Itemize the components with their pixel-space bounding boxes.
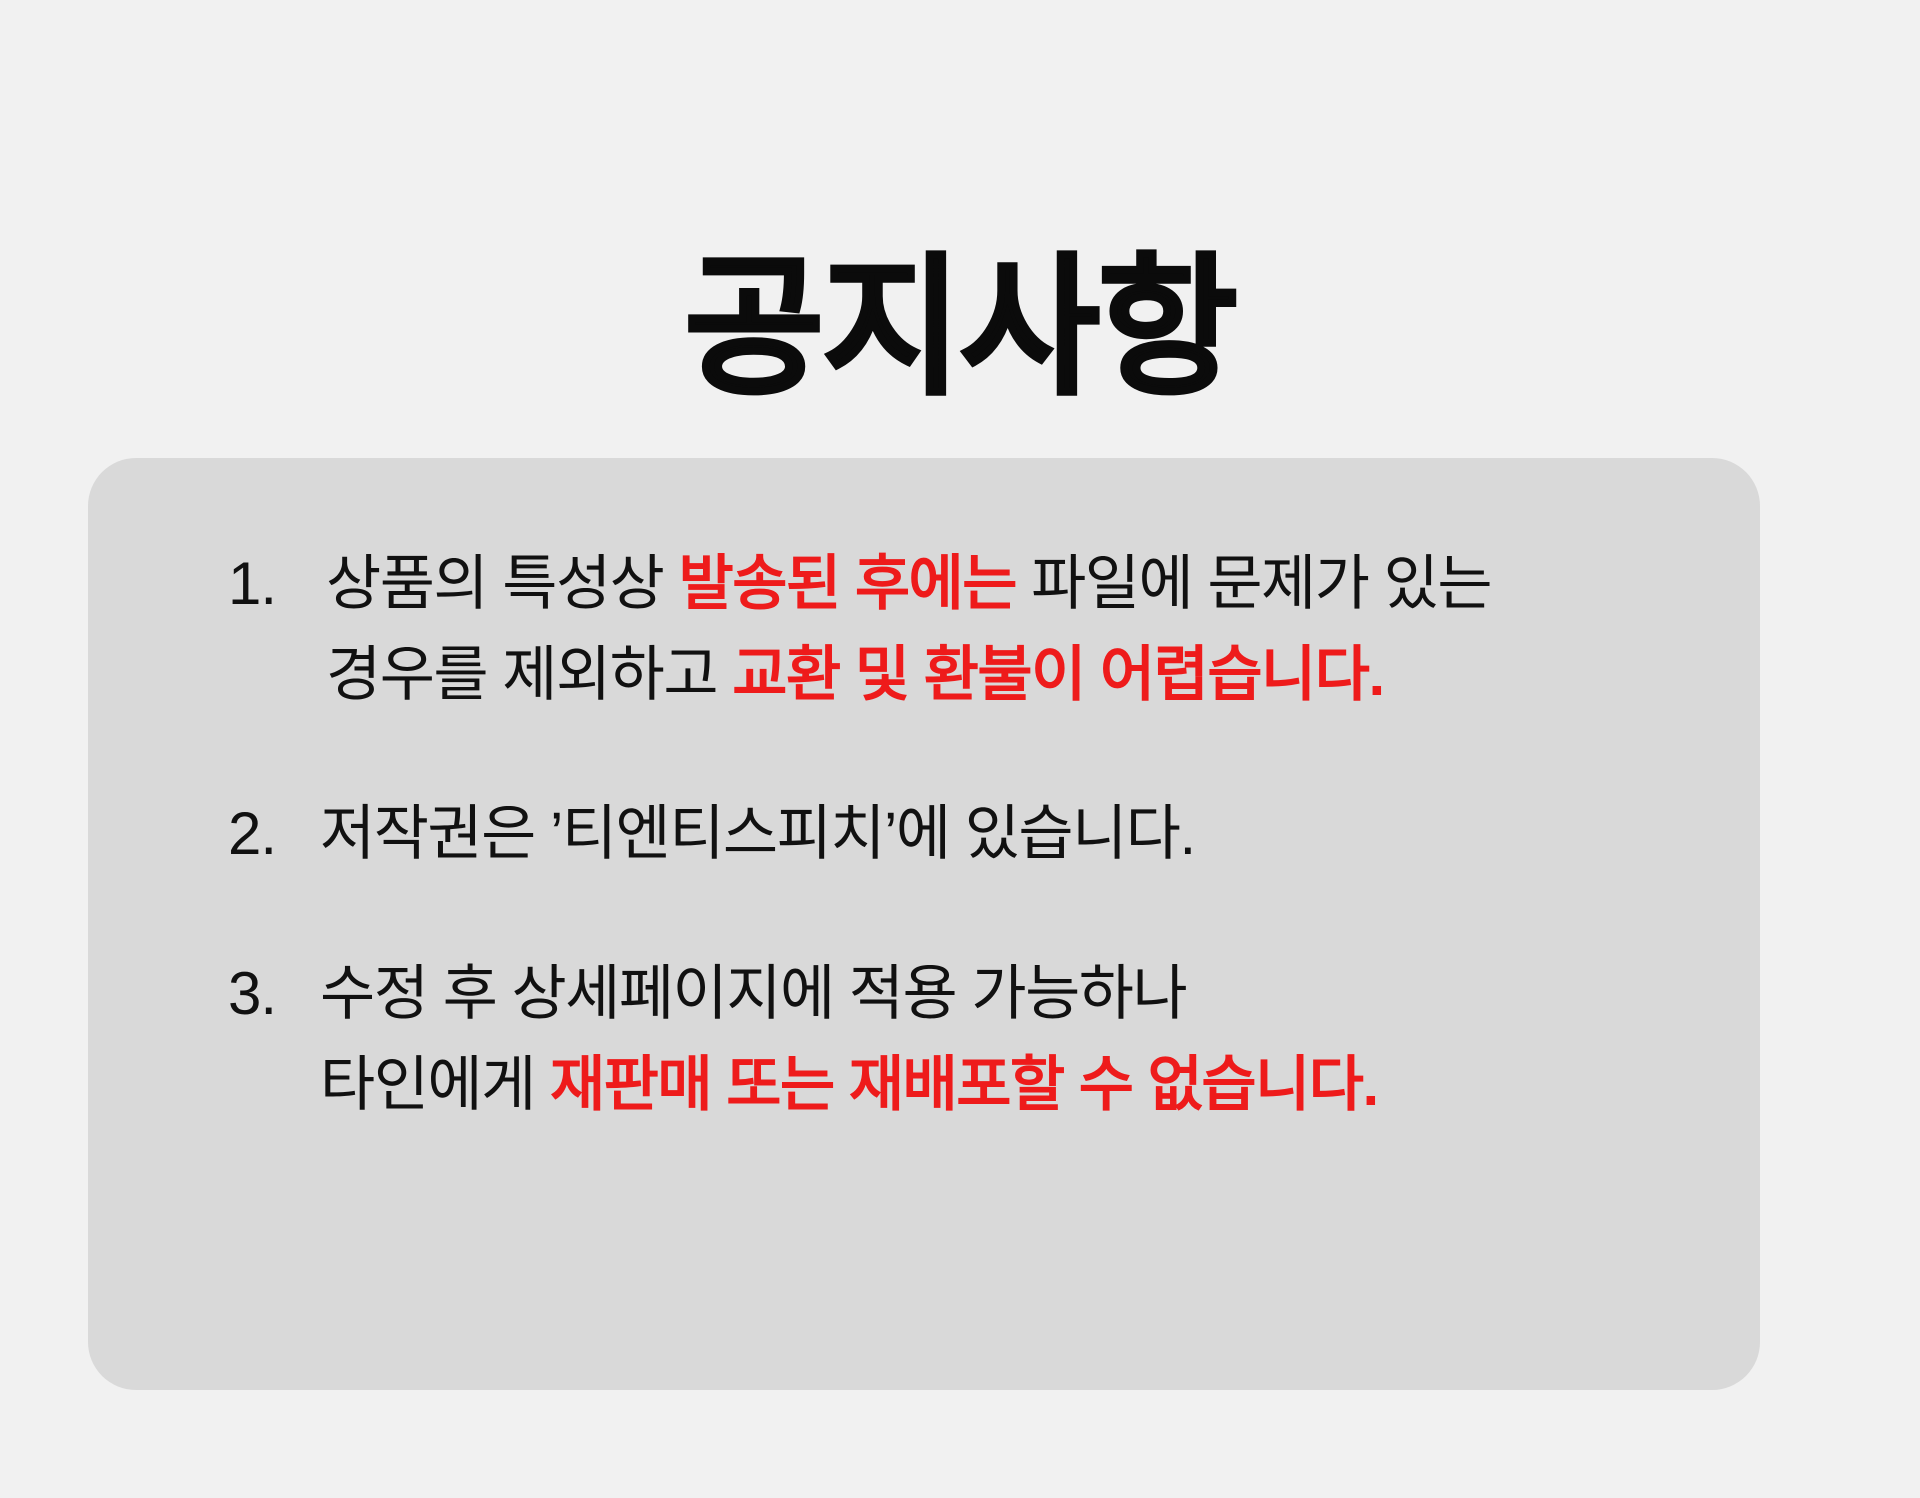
highlight-text: 교환 및 환불이 어렵습니다. bbox=[732, 641, 1383, 708]
notice-item-number: 1. bbox=[228, 538, 276, 629]
notice-item: 1.상품의 특성상 발송된 후에는 파일에 문제가 있는경우를 제외하고 교환 … bbox=[228, 538, 1690, 720]
notice-item: 2.저작권은 ’티엔티스피치’에 있습니다. bbox=[228, 788, 1690, 879]
notice-item-line: 경우를 제외하고 교환 및 환불이 어렵습니다. bbox=[326, 629, 1690, 720]
body-text: 경우를 제외하고 bbox=[326, 641, 732, 708]
notice-item-number: 2. bbox=[228, 788, 276, 879]
notice-item: 3.수정 후 상세페이지에 적용 가능하나타인에게 재판매 또는 재배포할 수 … bbox=[228, 948, 1690, 1130]
body-text: 파일에 문제가 있는 bbox=[1016, 550, 1491, 617]
page-title: 공지사항 bbox=[0, 252, 1920, 404]
body-text: 타인에게 bbox=[320, 1051, 550, 1118]
notice-item-line: 수정 후 상세페이지에 적용 가능하나 bbox=[320, 948, 1690, 1039]
highlight-text: 발송된 후에는 bbox=[679, 550, 1016, 617]
highlight-text: 재판매 또는 재배포할 수 없습니다. bbox=[550, 1051, 1378, 1118]
notice-item-number: 3. bbox=[228, 948, 276, 1039]
body-text: 상품의 특성상 bbox=[326, 550, 679, 617]
notice-item-line: 저작권은 ’티엔티스피치’에 있습니다. bbox=[320, 788, 1690, 879]
notice-item-line: 상품의 특성상 발송된 후에는 파일에 문제가 있는 bbox=[326, 538, 1690, 629]
notice-slide: 공지사항 1.상품의 특성상 발송된 후에는 파일에 문제가 있는경우를 제외하… bbox=[0, 0, 1920, 1498]
notice-item-line: 타인에게 재판매 또는 재배포할 수 없습니다. bbox=[320, 1039, 1690, 1130]
notice-list: 1.상품의 특성상 발송된 후에는 파일에 문제가 있는경우를 제외하고 교환 … bbox=[228, 538, 1690, 1130]
notice-card: 1.상품의 특성상 발송된 후에는 파일에 문제가 있는경우를 제외하고 교환 … bbox=[88, 458, 1760, 1390]
body-text: 저작권은 ’티엔티스피치’에 있습니다. bbox=[320, 800, 1195, 867]
body-text: 수정 후 상세페이지에 적용 가능하나 bbox=[320, 960, 1186, 1027]
